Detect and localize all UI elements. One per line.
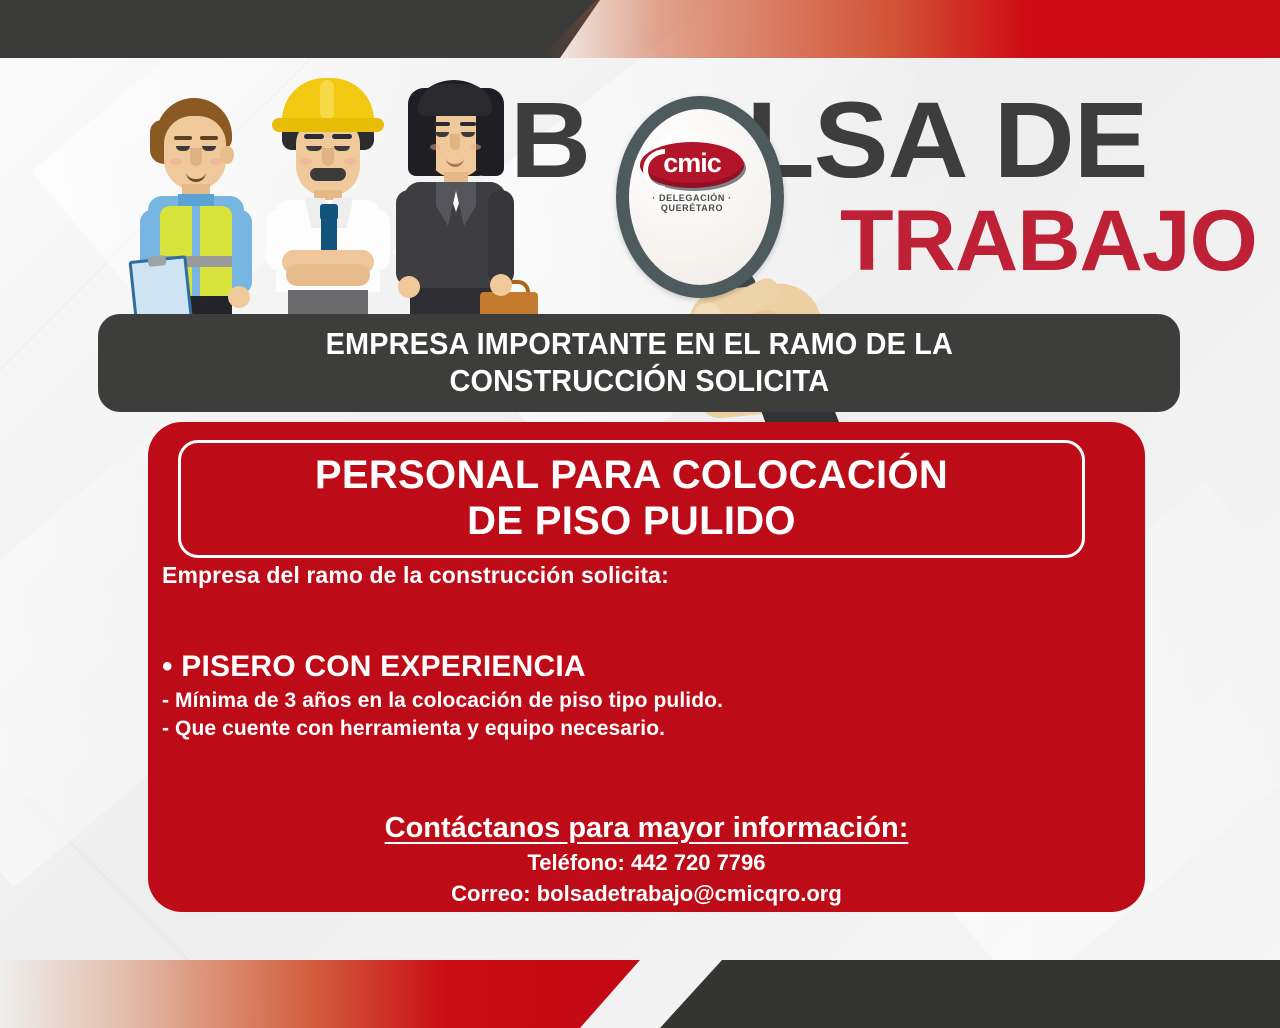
cmic-logo: cmic · DELEGACIÓN · QUERÉTARO: [640, 142, 744, 216]
bottom-right-dark-bar: [660, 960, 1280, 1028]
construction-worker-figure: [130, 80, 260, 320]
job-title-line2: DE PISO PULIDO: [315, 499, 948, 545]
job-title-line1: PERSONAL PARA COLOCACIÓN: [315, 453, 948, 499]
contact-heading-wrap: Contáctanos para mayor información:: [148, 812, 1145, 845]
company-banner-line1: EMPRESA IMPORTANTE EN EL RAMO DE LA: [325, 326, 952, 363]
cmic-delegation-label: · DELEGACIÓN ·: [640, 193, 744, 203]
job-title-text: PERSONAL PARA COLOCACIÓN DE PISO PULIDO: [315, 453, 948, 544]
cmic-logo-text: cmic: [640, 150, 744, 177]
job-requirement-item: - Mínima de 3 años en la colocación de p…: [162, 687, 723, 715]
magnifying-glass-icon: cmic · DELEGACIÓN · QUERÉTARO: [606, 90, 856, 330]
job-title-box: PERSONAL PARA COLOCACIÓN DE PISO PULIDO: [178, 440, 1085, 558]
headline-trabajo: TRABAJO: [840, 198, 1257, 284]
job-requirement-item: - Que cuente con herramienta y equipo ne…: [162, 715, 723, 743]
headline-block: BLSA DE cmic · DELEGACIÓN · QUERÉTARO: [510, 86, 1210, 306]
headline-b-letter: B: [510, 79, 590, 200]
job-requirements-list: - Mínima de 3 años en la colocación de p…: [162, 687, 723, 742]
top-left-dark-bar: [0, 0, 600, 58]
workers-illustration: [120, 68, 520, 320]
job-intro-text: Empresa del ramo de la construcción soli…: [162, 562, 669, 589]
job-posting-flyer: BLSA DE cmic · DELEGACIÓN · QUERÉTARO: [0, 0, 1280, 1028]
contact-block: Contáctanos para mayor información: Telé…: [148, 812, 1145, 907]
contact-email[interactable]: Correo: bolsadetrabajo@cmicqro.org: [148, 881, 1145, 907]
company-banner-line2: CONSTRUCCIÓN SOLICITA: [325, 363, 952, 400]
businesswoman-figure: [388, 70, 520, 320]
job-position-label: • PISERO CON EXPERIENCIA: [162, 650, 586, 684]
company-banner: EMPRESA IMPORTANTE EN EL RAMO DE LA CONS…: [98, 314, 1180, 412]
cmic-city-label: QUERÉTARO: [640, 203, 744, 213]
top-right-red-bar: [540, 0, 1280, 58]
supervisor-figure: [260, 72, 396, 320]
job-details-panel: PERSONAL PARA COLOCACIÓN DE PISO PULIDO …: [148, 422, 1145, 912]
contact-heading: Contáctanos para mayor información:: [385, 812, 909, 845]
company-banner-text: EMPRESA IMPORTANTE EN EL RAMO DE LA CONS…: [325, 326, 952, 399]
contact-phone[interactable]: Teléfono: 442 720 7796: [148, 850, 1145, 876]
bottom-left-red-bar: [0, 960, 640, 1028]
